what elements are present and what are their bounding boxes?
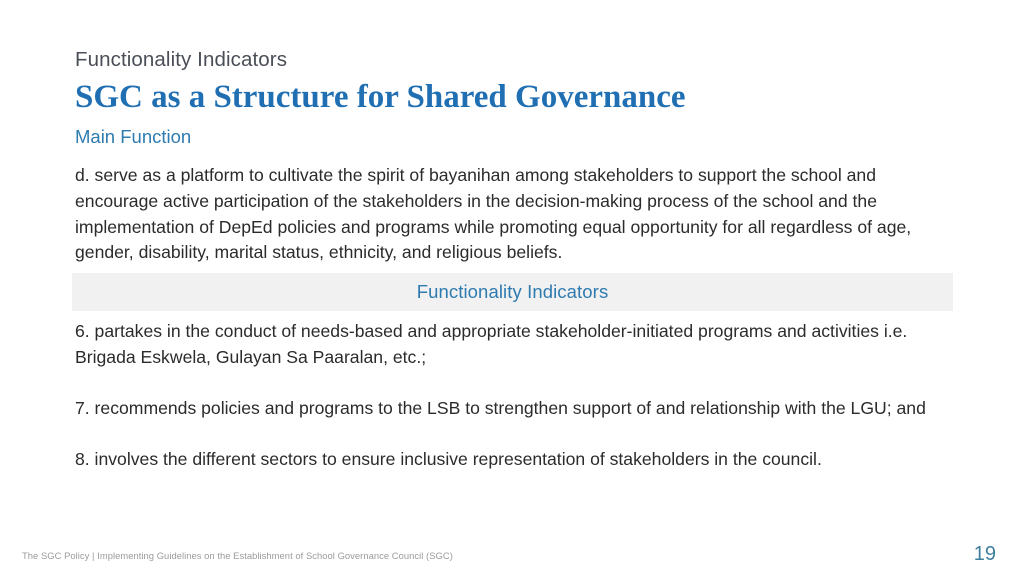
banner-label: Functionality Indicators xyxy=(417,281,609,303)
slide-eyebrow: Functionality Indicators xyxy=(75,48,964,72)
list-item: 7. recommends policies and programs to t… xyxy=(75,396,935,422)
page-number: 19 xyxy=(974,543,996,566)
footer-note: The SGC Policy | Implementing Guidelines… xyxy=(22,550,453,561)
section-subheading: Main Function xyxy=(75,126,964,148)
slide-header: Functionality Indicators SGC as a Struct… xyxy=(75,48,964,148)
list-item: 8. involves the different sectors to ens… xyxy=(75,447,935,473)
functionality-indicators-banner: Functionality Indicators xyxy=(72,273,953,311)
indicator-list: 6. partakes in the conduct of needs-base… xyxy=(75,319,935,473)
page-title: SGC as a Structure for Shared Governance xyxy=(75,78,964,117)
list-item: 6. partakes in the conduct of needs-base… xyxy=(75,319,935,371)
intro-paragraph: d. serve as a platform to cultivate the … xyxy=(75,163,935,266)
slide-canvas: Functionality Indicators SGC as a Struct… xyxy=(0,0,1024,576)
